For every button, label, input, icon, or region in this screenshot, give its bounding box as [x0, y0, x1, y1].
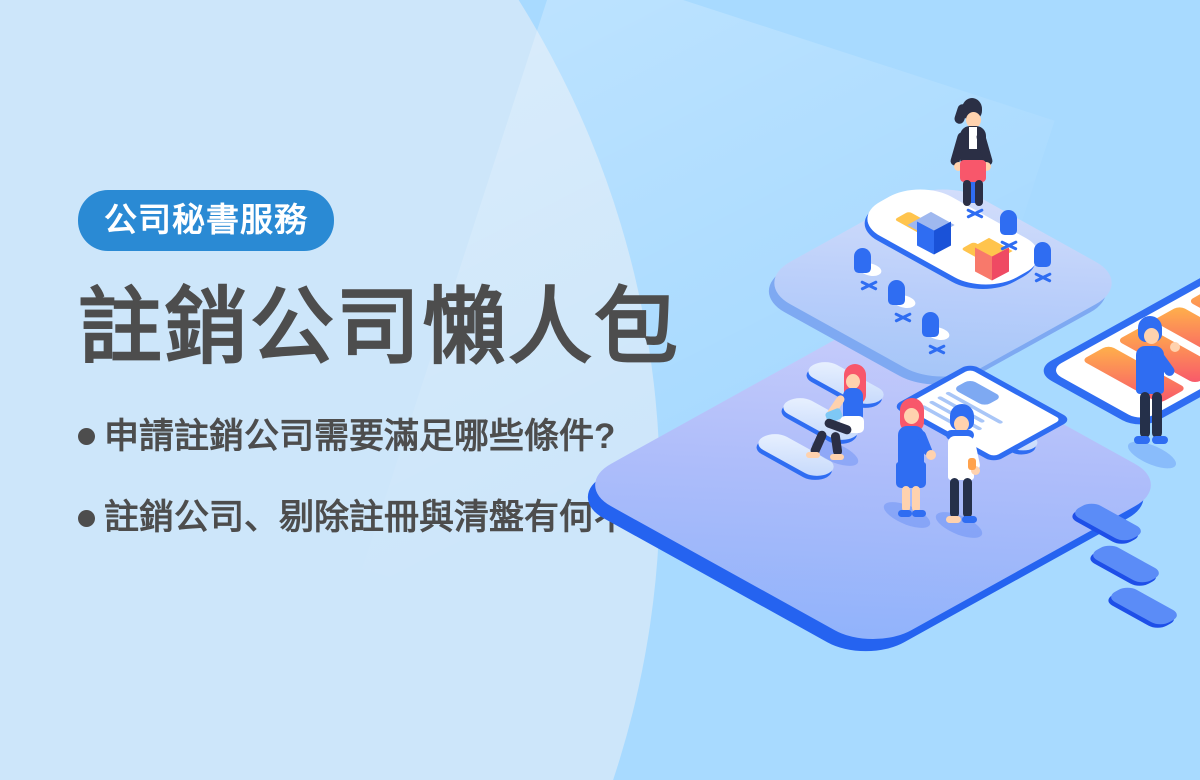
- shoe: [1152, 436, 1168, 444]
- chair-back: [1034, 242, 1051, 267]
- chair-back: [888, 280, 905, 305]
- man-touching-phone: [1128, 318, 1184, 468]
- leg: [975, 180, 983, 206]
- hand: [926, 450, 936, 460]
- chair-back: [854, 248, 871, 273]
- leg: [963, 478, 972, 518]
- bullet-dot-icon: [78, 510, 95, 527]
- head: [846, 374, 860, 389]
- floating-bar: [1106, 585, 1182, 627]
- category-badge: 公司秘書服務: [78, 190, 334, 251]
- promotional-banner: 公司秘書服務 註銷公司懶人包 申請註銷公司需要滿足哪些條件? 註銷公司、剔除註冊…: [0, 0, 1200, 780]
- leg: [912, 486, 920, 512]
- woman-standing-at-table: [938, 100, 998, 210]
- leg: [1152, 392, 1162, 438]
- shoe: [1134, 436, 1150, 444]
- skirt: [960, 160, 986, 182]
- hand: [1170, 342, 1180, 352]
- leg: [963, 180, 971, 206]
- chair-back: [1000, 210, 1017, 235]
- leg: [950, 478, 959, 518]
- bullet-dot-icon: [78, 428, 95, 445]
- figure-shadow: [928, 508, 990, 542]
- skirt: [896, 462, 926, 488]
- leg: [902, 486, 910, 512]
- isometric-illustration: [690, 70, 1200, 690]
- head: [1144, 328, 1159, 344]
- woman-seated-with-tablet: [818, 366, 884, 466]
- leg: [1140, 392, 1150, 438]
- head: [904, 408, 919, 424]
- shoe: [962, 516, 977, 523]
- shoe: [912, 510, 926, 517]
- page-title: 註銷公司懶人包: [78, 285, 778, 371]
- board-thumbnail: [952, 379, 1002, 407]
- woman-standing-blue-dress: [886, 400, 938, 526]
- shoe: [830, 454, 844, 460]
- bullet-text: 申請註銷公司需要滿足哪些條件?: [104, 415, 615, 459]
- cube-blue: [918, 212, 954, 254]
- man-with-white-shirt: [936, 406, 988, 538]
- shoe: [806, 452, 820, 458]
- floating-bar: [1088, 543, 1164, 585]
- cup: [968, 458, 976, 470]
- chair-back: [922, 312, 939, 337]
- shoe: [898, 510, 912, 517]
- shoe: [946, 516, 961, 523]
